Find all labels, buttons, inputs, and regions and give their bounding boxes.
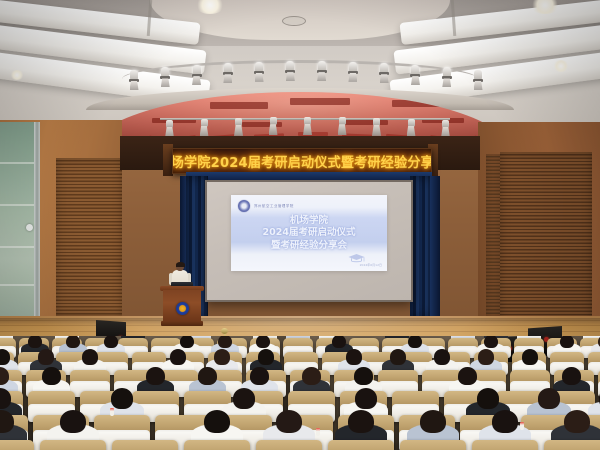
audience-head: [28, 336, 42, 348]
slide-title-block: 机场学院 2024届考研启动仪式 暨考研经验分享会: [231, 215, 387, 252]
spotlight-fixture-icon: [268, 117, 279, 135]
audience-head: [170, 349, 186, 365]
audience-head: [60, 410, 86, 433]
seat-back: [256, 440, 322, 450]
dome-recessed-panel: [392, 100, 442, 107]
audience-head: [302, 367, 321, 385]
auditorium-seat: [544, 440, 600, 450]
audience-head: [478, 349, 494, 365]
audience-head: [198, 367, 217, 385]
presentation-slide: 郑州航空工业管理学院 机场学院 2024届考研启动仪式 暨考研经验分享会 202…: [231, 195, 387, 271]
acoustic-slat-panel-right-edge: [486, 154, 500, 320]
auditorium-seat: [328, 440, 394, 450]
audience-head: [538, 388, 560, 409]
audience-head: [204, 410, 230, 433]
auditorium-seat: [184, 440, 250, 450]
spotlight-fixture-icon: [316, 61, 328, 81]
spotlight-fixture-icon: [199, 119, 210, 137]
glass-mullion: [34, 122, 40, 318]
green-glass-panel: [0, 122, 36, 318]
audience-head: [492, 410, 518, 433]
podium-base: [161, 321, 203, 326]
slide-title-line-3: 暨考研经验分享会: [231, 240, 387, 253]
acoustic-slat-panel-right: [500, 152, 592, 320]
podium: [162, 286, 202, 328]
curtain-edge-right: [430, 176, 440, 324]
dome-recessed-panel: [290, 98, 350, 105]
audience-head: [104, 336, 118, 348]
seat-back: [0, 440, 34, 450]
auditorium-seat: [0, 440, 34, 450]
audience-head: [434, 349, 450, 365]
auditorium-seat: [40, 440, 106, 450]
stage-curtain-right: [410, 176, 432, 318]
audience-head: [276, 410, 302, 433]
spotlight-fixture-icon: [472, 70, 484, 90]
slide-logo-caption: 郑州航空工业管理学院: [254, 203, 294, 208]
spotlight-fixture-icon: [337, 117, 348, 135]
audience-head: [82, 349, 98, 365]
audience-head: [562, 367, 581, 385]
spotlight-fixture-icon: [128, 70, 140, 90]
audience-head: [38, 349, 54, 365]
auditorium-seat: [400, 440, 466, 450]
audience-head: [233, 388, 255, 409]
audience-head: [564, 410, 590, 433]
seat-back: [40, 440, 106, 450]
audience-area: [0, 336, 600, 450]
seat-back: [184, 440, 250, 450]
auditorium-photo: 机场学院2024届考研启动仪式暨考研经验分享会 郑州航空工业管理学院 机场学院 …: [0, 0, 600, 450]
audience-head: [408, 336, 422, 348]
audience-head: [218, 336, 232, 348]
audience-head: [214, 349, 230, 365]
water-bottle: [316, 428, 320, 436]
auditorium-seat: [112, 440, 178, 450]
spotlight-fixture-icon: [441, 67, 453, 87]
audience-head: [420, 410, 446, 433]
speaker-hair: [176, 262, 185, 267]
audience-head: [522, 349, 538, 365]
audience-head: [258, 349, 274, 365]
audience-head: [477, 388, 499, 409]
spotlight-fixture-icon: [347, 62, 359, 82]
seat-back: [472, 440, 538, 450]
led-banner: 机场学院2024届考研启动仪式暨考研经验分享会: [172, 148, 432, 174]
stage-shadow: [0, 318, 600, 326]
spotlight-fixture-icon: [284, 61, 296, 81]
auditorium-seat: [256, 440, 322, 450]
audience-head: [348, 410, 374, 433]
seat-back: [328, 440, 394, 450]
spotlight-fixture-icon: [406, 119, 417, 137]
audience-head: [390, 349, 406, 365]
microphone-icon: [221, 328, 228, 334]
audience-head: [332, 336, 346, 348]
audience-head: [355, 388, 377, 409]
audience-head: [256, 336, 270, 348]
spotlight-fixture-icon: [371, 118, 382, 136]
spotlight-fixture-icon: [253, 62, 265, 82]
spotlight-fixture-icon: [409, 65, 421, 85]
slide-title-line-1: 机场学院: [231, 215, 387, 227]
door-handle-icon[interactable]: [26, 224, 33, 231]
spotlight-fixture-icon: [191, 65, 203, 85]
ceiling-vent-icon: [282, 16, 306, 26]
audience-head: [42, 367, 61, 385]
audience-head: [146, 367, 165, 385]
dome-recessed-panel: [210, 102, 268, 109]
spotlight-fixture-icon: [222, 63, 234, 83]
auditorium-seat: [472, 440, 538, 450]
audience-head: [250, 367, 269, 385]
audience-head: [354, 367, 373, 385]
slide-title-line-2: 2024届考研启动仪式: [231, 227, 387, 240]
audience-head: [180, 336, 194, 348]
audience-head: [66, 336, 80, 348]
water-bottle: [520, 422, 524, 430]
audience-head: [111, 388, 133, 409]
slide-footer-text: 2024年6月12日: [360, 263, 382, 267]
seat-back: [112, 440, 178, 450]
water-bottle: [110, 408, 114, 416]
university-logo-icon: [238, 200, 250, 212]
projection-screen: 郑州航空工业管理学院 机场学院 2024届考研启动仪式 暨考研经验分享会 202…: [207, 182, 411, 300]
led-banner-text: 机场学院2024届考研启动仪式暨考研经验分享会: [172, 151, 432, 171]
spotlight-fixture-icon: [233, 118, 244, 136]
spotlight-fixture-icon: [378, 63, 390, 83]
spotlight-truss-inner: [160, 112, 450, 138]
spotlight-fixture-icon: [159, 67, 171, 87]
school-crest-emblem-icon: [176, 302, 189, 315]
ceiling-downlight-icon: [553, 60, 569, 72]
seat-back: [400, 440, 466, 450]
audience-head: [560, 336, 574, 348]
podium-body: [163, 290, 201, 322]
spotlight-truss-outer: [122, 56, 478, 86]
audience-head: [484, 336, 498, 348]
spotlight-fixture-icon: [302, 117, 313, 135]
acoustic-slat-panel-left: [56, 158, 122, 318]
ceiling-downlight-icon: [10, 70, 24, 80]
seat-back: [544, 440, 600, 450]
truss-bar: [122, 60, 478, 79]
audience-head: [346, 349, 362, 365]
audience-head: [458, 367, 477, 385]
